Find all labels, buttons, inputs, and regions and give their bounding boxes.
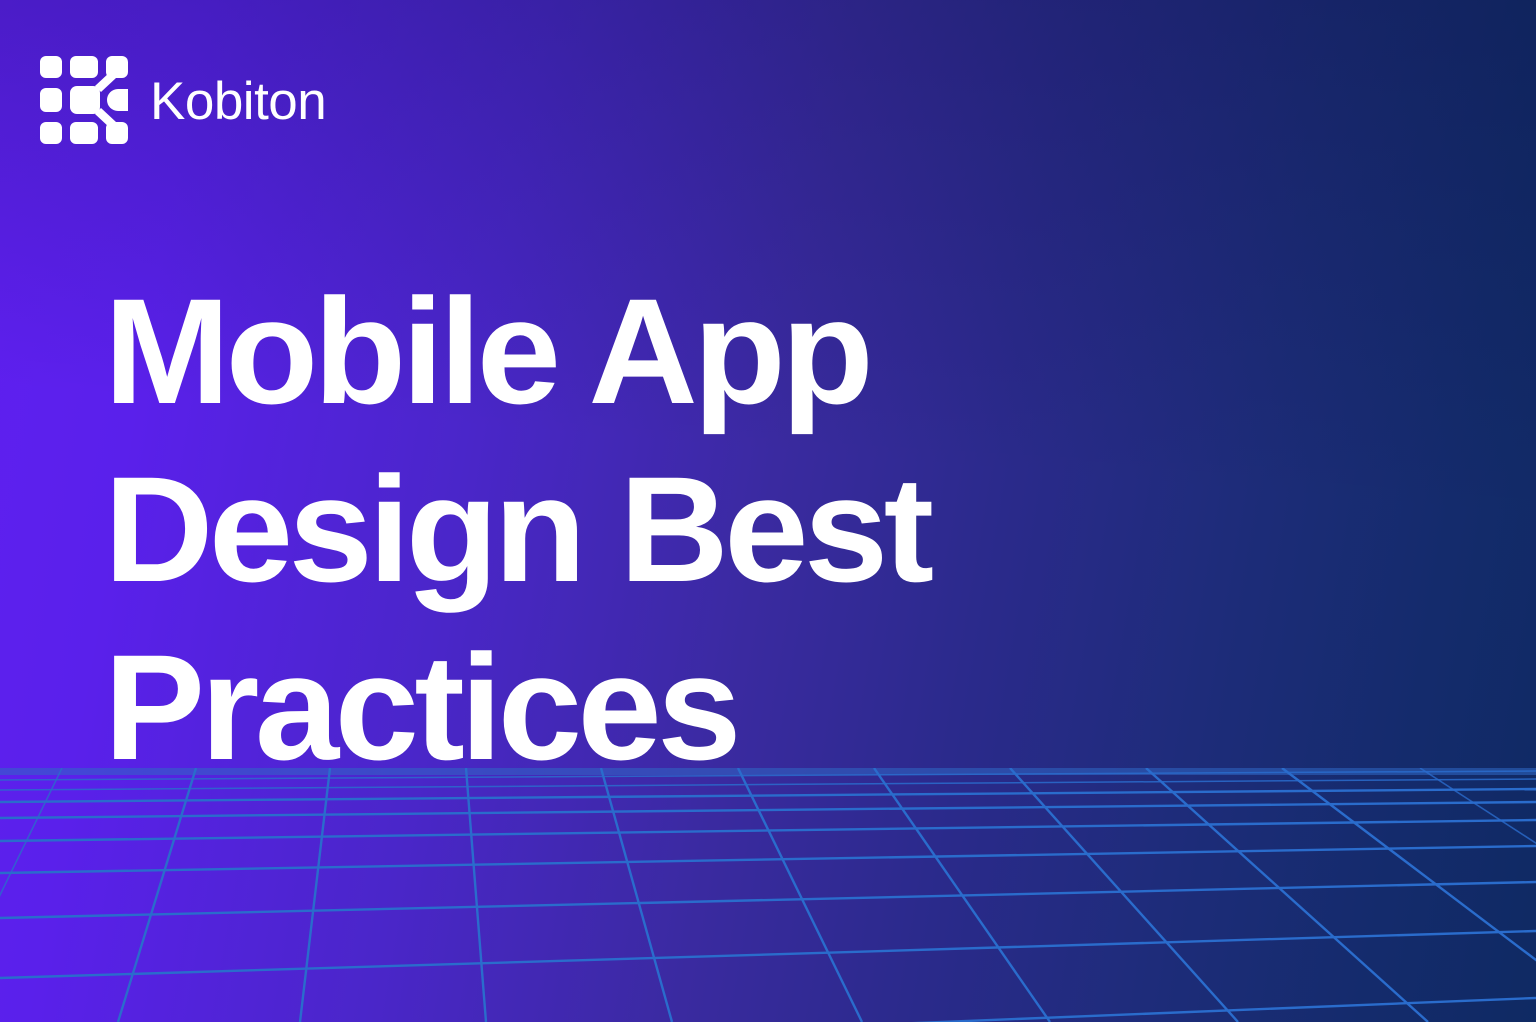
hero-title-line-2: Design Best [104,440,1114,618]
grid-vertical-lines [0,768,1536,1022]
kobiton-grid-mark-icon [40,56,128,144]
brand-logo-lockup[interactable]: Kobiton [40,56,326,144]
brand-wordmark: Kobiton [150,75,326,128]
hero-title-line-3: Practices [104,618,1114,796]
kobiton-hero-banner: Kobiton Mobile App Design Best Practices [0,0,1536,1022]
grid-horizontal-lines [0,771,1536,1022]
perspective-grid-floor [0,768,1536,1022]
hero-title-line-1: Mobile App [104,262,1114,440]
hero-title: Mobile App Design Best Practices [104,262,1104,796]
